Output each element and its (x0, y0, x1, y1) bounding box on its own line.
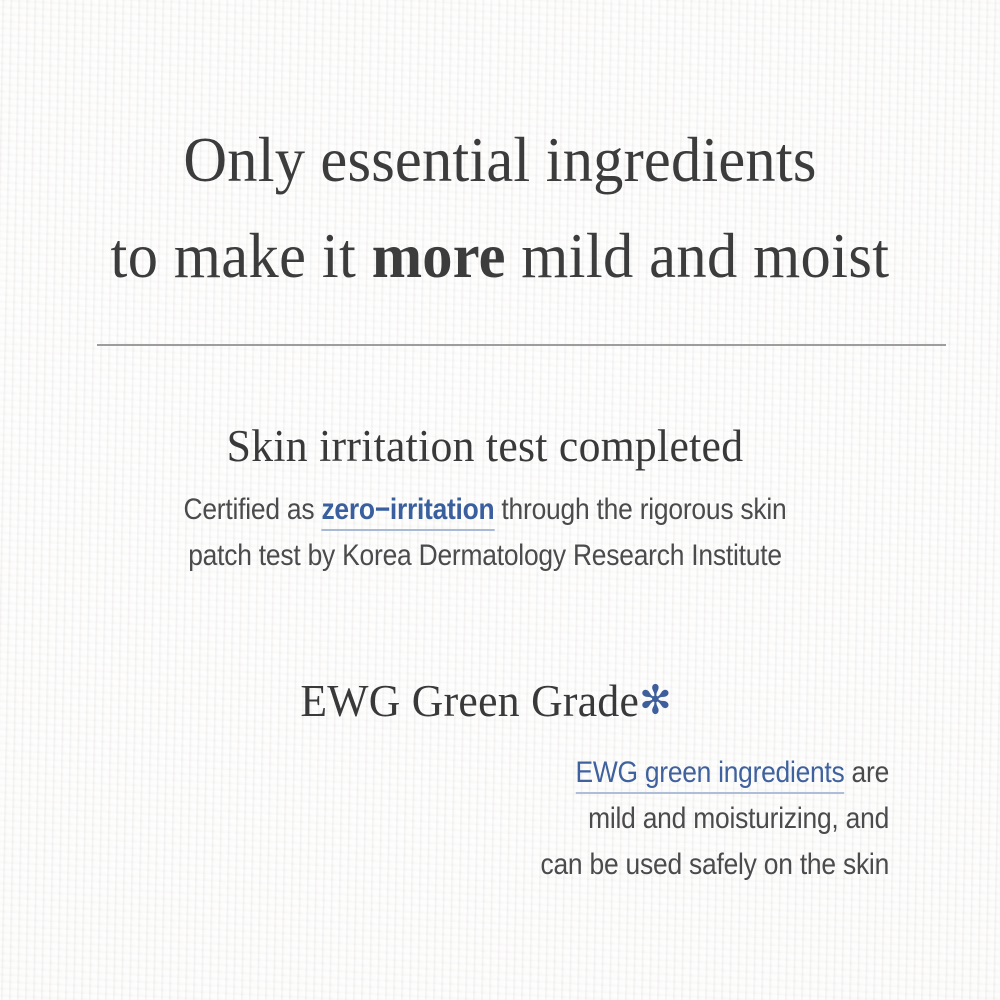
ewg-body-line-1: EWG green ingredients are (58, 750, 913, 796)
ewg-green-grade-heading: EWG Green Grade✻ (15, 670, 958, 732)
skin-irritation-body: Certified as zero−irritation through the… (0, 487, 970, 579)
skin-irritation-heading: Skin irritation test completed (15, 415, 956, 477)
ewg-green-grade-heading-text: EWG Green Grade (300, 676, 639, 726)
headline-line-2-suffix: mild and moist (506, 221, 890, 291)
zero-irritation-link[interactable]: zero−irritation (321, 493, 494, 531)
section-skin-irritation: Skin irritation test completed Certified… (0, 415, 970, 579)
headline-line-2-prefix: to make it (111, 221, 372, 291)
ewg-body-line1-suffix: are (844, 756, 889, 789)
headline-block: Only essential ingredients to make it mo… (0, 112, 1000, 304)
ewg-body-line-2: mild and moisturizing, and (58, 796, 913, 842)
skin-irritation-body-line-2: patch test by Korea Dermatology Research… (58, 533, 912, 579)
headline-line-2-emphasis: more (372, 221, 506, 291)
headline-line-1: Only essential ingredients (20, 112, 980, 208)
asterisk-footnote-icon: ✻ (639, 678, 672, 724)
skin-irritation-body-line-1: Certified as zero−irritation through the… (58, 487, 912, 533)
section-divider (97, 344, 946, 346)
product-detail-panel: Only essential ingredients to make it mo… (0, 0, 1000, 1000)
headline-line-2: to make it more mild and moist (20, 208, 980, 304)
section-ewg-green-grade: EWG Green Grade✻ EWG green ingredients a… (0, 670, 972, 888)
ewg-body-line-3: can be used safely on the skin (58, 842, 913, 888)
skin-irritation-line1-suffix: through the rigorous skin (494, 493, 786, 526)
skin-irritation-line1-prefix: Certified as (183, 493, 321, 526)
ewg-green-grade-body: EWG green ingredients are mild and moist… (0, 750, 972, 888)
ewg-green-ingredients-link[interactable]: EWG green ingredients (576, 756, 845, 794)
